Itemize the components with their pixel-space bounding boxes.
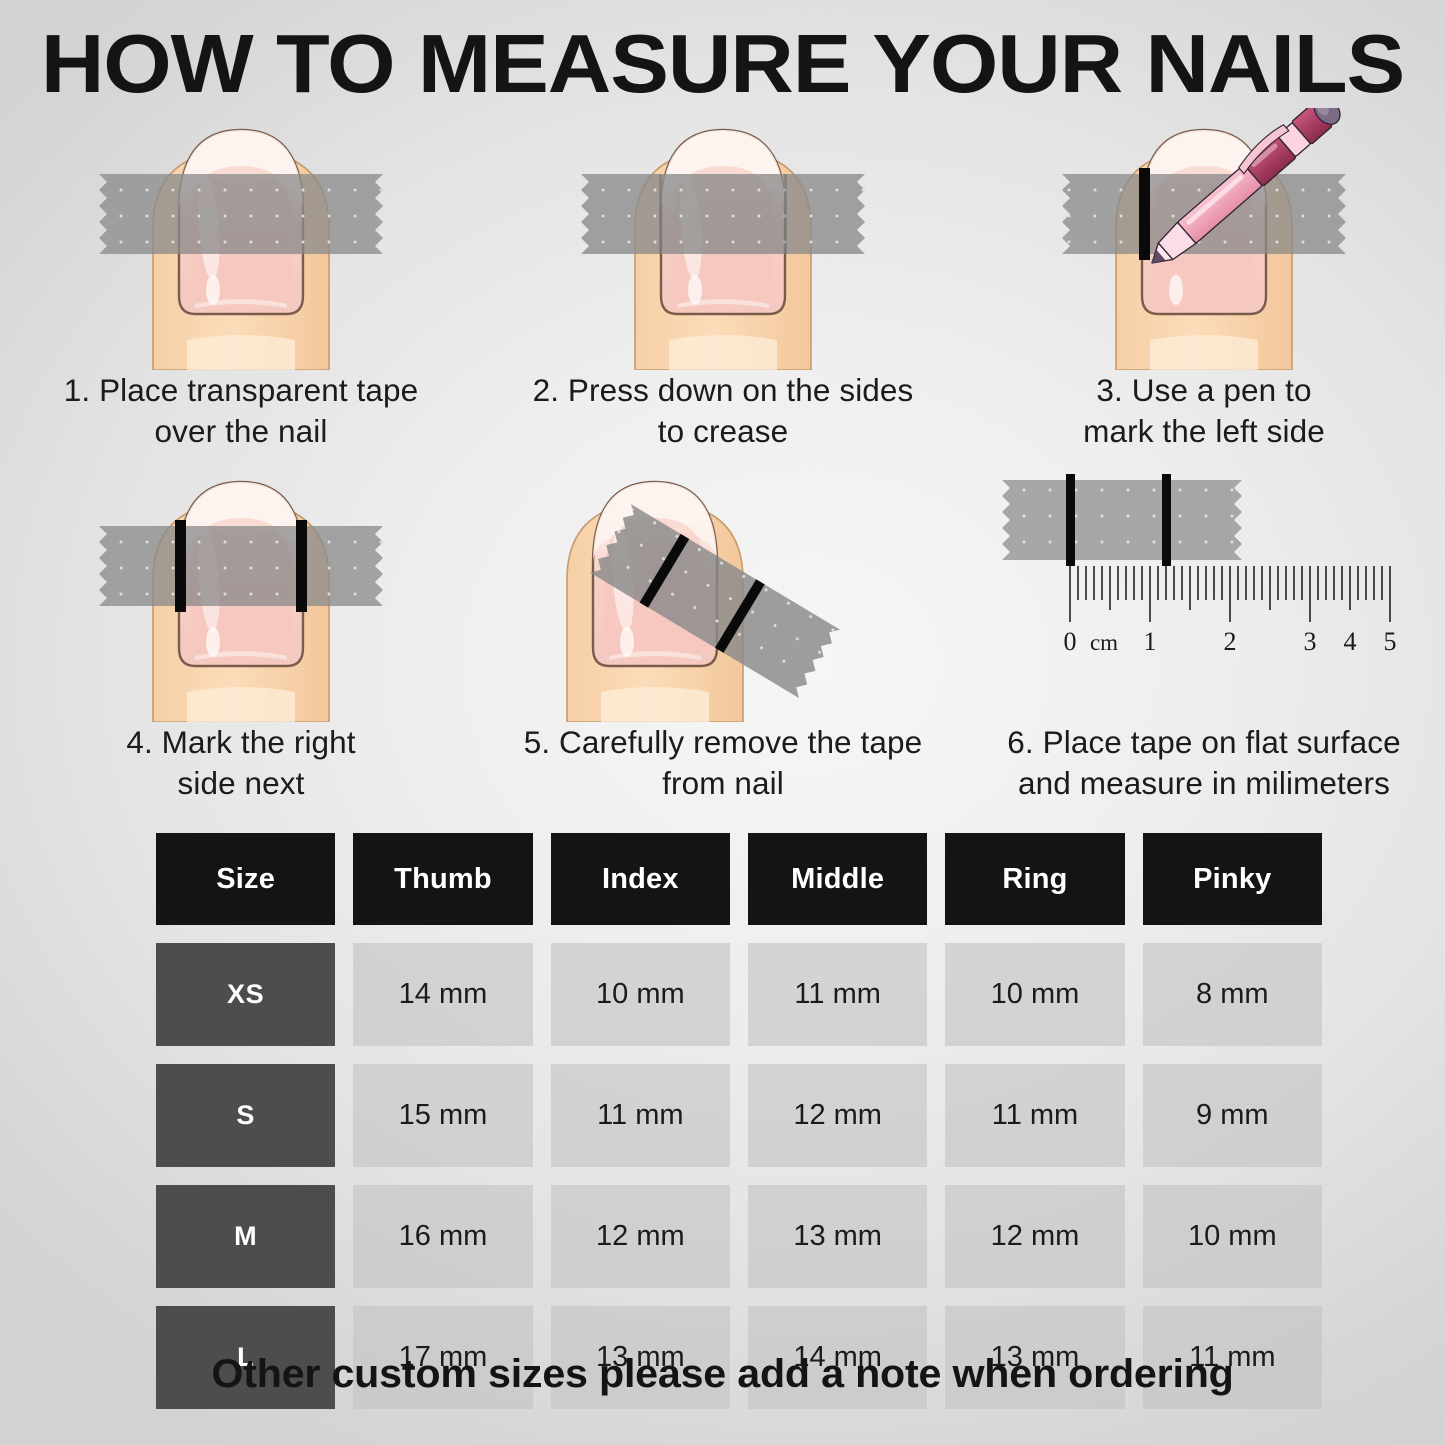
step-6-caption: 6. Place tape on flat surfaceand measure… [981, 722, 1427, 803]
table-header-row: Size Thumb Index Middle Ring Pinky [156, 833, 1322, 925]
ruler-labels: 0 cm 1 2 3 4 5 [1064, 627, 1397, 656]
svg-text:3: 3 [1304, 627, 1317, 656]
left-mark [1066, 474, 1075, 566]
step-3-illustration [963, 108, 1445, 370]
tape-strip [994, 474, 1254, 566]
table-cell: 13 mm [748, 1185, 927, 1288]
ruler [1070, 566, 1390, 622]
tape-strip-creased [573, 168, 873, 260]
table-row: XS 14 mm 10 mm 11 mm 10 mm 8 mm [156, 943, 1322, 1046]
table-cell: 14 mm [353, 943, 532, 1046]
step-3-caption: 3. Use a pen tomark the left side [981, 370, 1427, 451]
table-header-pinky: Pinky [1143, 833, 1322, 925]
svg-text:5: 5 [1384, 627, 1397, 656]
step-6-illustration: 0 cm 1 2 3 4 5 [963, 460, 1445, 722]
footer-note: Other custom sizes please add a note whe… [0, 1352, 1445, 1397]
step-6: 0 cm 1 2 3 4 5 6. Place tape on flat sur… [963, 460, 1445, 812]
table-cell: 10 mm [1143, 1185, 1322, 1288]
table-cell: 15 mm [353, 1064, 532, 1167]
table-cell: 11 mm [551, 1064, 730, 1167]
table-row: S 15 mm 11 mm 12 mm 11 mm 9 mm [156, 1064, 1322, 1167]
table-cell: 10 mm [945, 943, 1124, 1046]
step-2: 2. Press down on the sidesto crease [482, 108, 964, 460]
step-1-caption: 1. Place transparent tapeover the nail [18, 370, 464, 451]
step-1: 1. Place transparent tapeover the nail [0, 108, 482, 460]
table-cell: 16 mm [353, 1185, 532, 1288]
page-title: HOW TO MEASURE YOUR NAILS [0, 22, 1445, 105]
step-4-illustration [0, 460, 482, 722]
right-mark [1162, 474, 1171, 566]
table-cell: 11 mm [748, 943, 927, 1046]
table-cell: 10 mm [551, 943, 730, 1046]
table-header-ring: Ring [945, 833, 1124, 925]
steps-row-2: 4. Mark the rightside next [0, 460, 1445, 820]
step-5-illustration [482, 460, 964, 722]
table-row: M 16 mm 12 mm 13 mm 12 mm 10 mm [156, 1185, 1322, 1288]
step-2-illustration [482, 108, 964, 370]
svg-text:2: 2 [1224, 627, 1237, 656]
table-cell: 11 mm [945, 1064, 1124, 1167]
left-mark [175, 520, 186, 612]
step-1-illustration [0, 108, 482, 370]
svg-text:cm: cm [1090, 630, 1118, 655]
tape-strip [91, 168, 391, 260]
step-2-caption: 2. Press down on the sidesto crease [500, 370, 946, 451]
size-label: S [156, 1064, 335, 1167]
size-table: Size Thumb Index Middle Ring Pinky XS 14… [156, 833, 1322, 1409]
table-header-middle: Middle [748, 833, 927, 925]
table-cell: 9 mm [1143, 1064, 1322, 1167]
table-header-index: Index [551, 833, 730, 925]
right-mark [296, 520, 307, 612]
size-label: M [156, 1185, 335, 1288]
tape-strip [91, 520, 391, 612]
table-cell: 12 mm [748, 1064, 927, 1167]
step-5: 5. Carefully remove the tapefrom nail [482, 460, 964, 812]
step-3: 3. Use a pen tomark the left side [963, 108, 1445, 460]
table-header-thumb: Thumb [353, 833, 532, 925]
size-label: XS [156, 943, 335, 1046]
steps-row-1: 1. Place transparent tapeover the nail [0, 108, 1445, 460]
table-cell: 8 mm [1143, 943, 1322, 1046]
step-5-caption: 5. Carefully remove the tapefrom nail [500, 722, 946, 803]
left-mark [1139, 168, 1150, 260]
table-cell: 12 mm [945, 1185, 1124, 1288]
step-4-caption: 4. Mark the rightside next [18, 722, 464, 803]
svg-text:1: 1 [1144, 627, 1157, 656]
svg-text:0: 0 [1064, 627, 1077, 656]
svg-text:4: 4 [1344, 627, 1357, 656]
infographic-page: HOW TO MEASURE YOUR NAILS [0, 0, 1445, 1445]
step-4: 4. Mark the rightside next [0, 460, 482, 812]
table-header-size: Size [156, 833, 335, 925]
table-cell: 12 mm [551, 1185, 730, 1288]
steps-grid: 1. Place transparent tapeover the nail [0, 108, 1445, 820]
